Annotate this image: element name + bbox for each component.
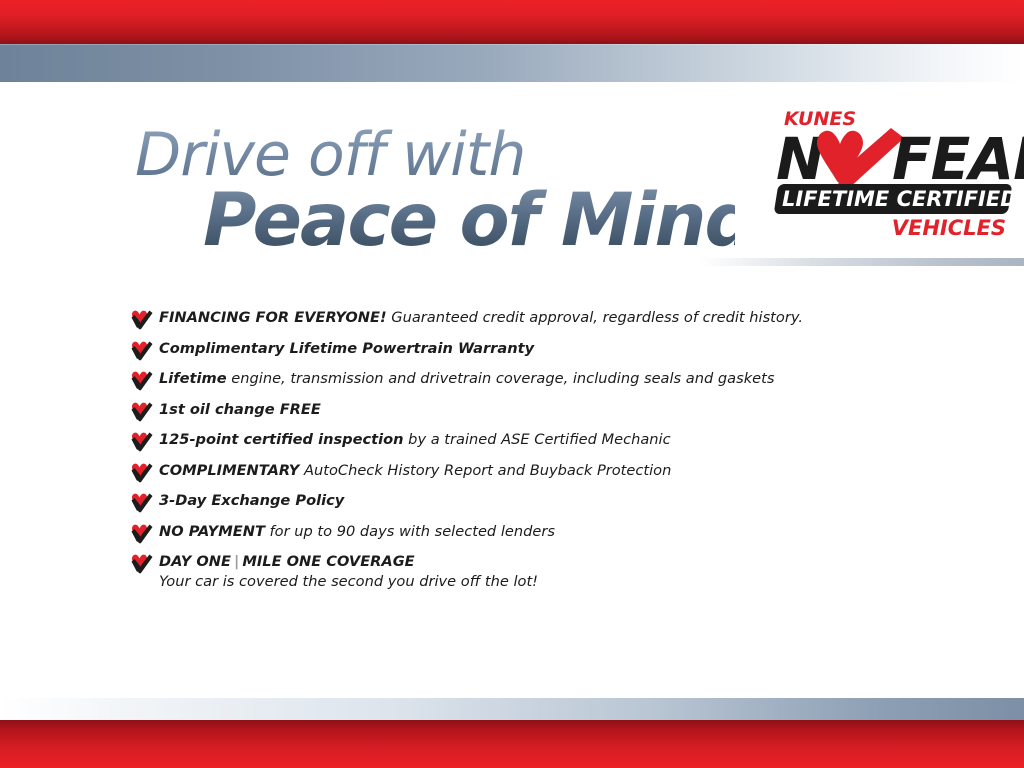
headline-line-1: Drive off with: [135, 124, 735, 186]
list-item: COMPLIMENTARY AutoCheck History Report a…: [131, 461, 971, 483]
heart-check-icon: [131, 401, 153, 422]
logo-word-vehicles: VEHICLES: [892, 216, 1006, 240]
list-item-bold: 3-Day Exchange Policy: [159, 492, 344, 509]
list-item: 1st oil change FREE: [131, 400, 971, 422]
list-item-rest: engine, transmission and drivetrain cove…: [227, 370, 775, 387]
list-item: DAY ONE|MILE ONE COVERAGE Your car is co…: [131, 552, 971, 592]
list-item: 125-point certified inspection by a trai…: [131, 430, 971, 452]
list-item: 3-Day Exchange Policy: [131, 491, 971, 513]
logo-nofear-wordmark: N FEAR: [772, 128, 1014, 190]
list-item-text: 125-point certified inspection by a trai…: [159, 430, 671, 449]
list-item-text: FINANCING FOR EVERYONE! Guaranteed credi…: [159, 308, 803, 327]
heart-check-icon: [131, 553, 153, 574]
kunes-no-fear-logo: KUNES N FEAR LIFETIME CERTIFIED VEHICLES: [772, 108, 1014, 248]
heart-check-icon: [131, 340, 153, 361]
list-item-bold: 1st oil change FREE: [159, 401, 321, 418]
heart-check-icon: [131, 431, 153, 452]
heart-check-icon: [131, 523, 153, 544]
list-item-bold: FINANCING FOR EVERYONE!: [159, 309, 387, 326]
list-item: Complimentary Lifetime Powertrain Warran…: [131, 339, 971, 361]
list-item-bold: 125-point certified inspection: [159, 431, 404, 448]
list-item-subtext: Your car is covered the second you drive…: [159, 572, 538, 592]
feature-list: FINANCING FOR EVERYONE! Guaranteed credi…: [131, 308, 971, 601]
bottom-red-bar: [0, 720, 1024, 768]
list-item-text: Complimentary Lifetime Powertrain Warran…: [159, 339, 534, 358]
list-item-bold: COMPLIMENTARY: [159, 462, 299, 479]
list-item-rest: AutoCheck History Report and Buyback Pro…: [299, 462, 671, 479]
list-item: NO PAYMENT for up to 90 days with select…: [131, 522, 971, 544]
list-item-text: 3-Day Exchange Policy: [159, 491, 344, 510]
list-item-bold: NO PAYMENT: [159, 523, 265, 540]
logo-word-fear: FEAR: [892, 130, 1024, 188]
top-red-bar: [0, 0, 1024, 44]
heart-check-icon: [131, 462, 153, 483]
list-item: FINANCING FOR EVERYONE! Guaranteed credi…: [131, 308, 971, 330]
list-item: Lifetime engine, transmission and drivet…: [131, 369, 971, 391]
heart-check-icon: [131, 370, 153, 391]
list-item-text: DAY ONE|MILE ONE COVERAGE: [159, 553, 415, 570]
list-item-group: DAY ONE|MILE ONE COVERAGE Your car is co…: [159, 552, 538, 592]
list-item-text: COMPLIMENTARY AutoCheck History Report a…: [159, 461, 671, 480]
headline-block: Drive off with Peace of Mind: [135, 124, 735, 260]
list-item-text: 1st oil change FREE: [159, 400, 321, 419]
top-gray-bar: [0, 44, 1024, 82]
heart-check-icon: [131, 492, 153, 513]
logo-band-text: LIFETIME CERTIFIED: [782, 186, 1008, 212]
list-item-bold: DAY ONE: [159, 553, 231, 570]
list-item-rest: Guaranteed credit approval, regardless o…: [387, 309, 803, 326]
heart-check-icon: [131, 309, 153, 330]
list-item-bold: Lifetime: [159, 370, 227, 387]
list-item-text: NO PAYMENT for up to 90 days with select…: [159, 522, 555, 541]
list-item-rest: by a trained ASE Certified Mechanic: [404, 431, 671, 448]
list-item-text: Lifetime engine, transmission and drivet…: [159, 369, 774, 388]
headline-line-2: Peace of Mind: [203, 182, 735, 260]
list-item-bold: Complimentary Lifetime Powertrain Warran…: [159, 340, 534, 357]
list-item-rest: for up to 90 days with selected lenders: [265, 523, 555, 540]
list-item-bold-2: MILE ONE COVERAGE: [242, 553, 414, 570]
bottom-gray-bar: [0, 698, 1024, 720]
list-item-separator: |: [231, 553, 242, 570]
